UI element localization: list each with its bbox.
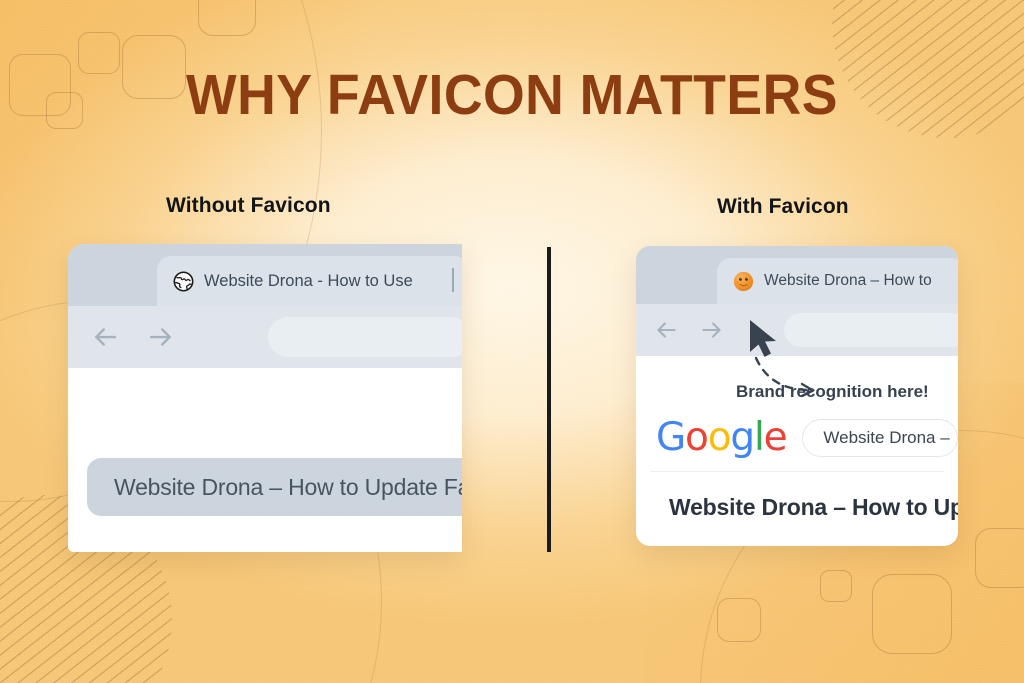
tab-text-caret — [452, 268, 454, 292]
google-logo-letter-2: o — [708, 415, 731, 460]
search-result-title-right: Website Drona – How to Up — [669, 494, 958, 520]
browser-toolbar-left — [68, 306, 462, 368]
address-bar-left[interactable] — [268, 317, 462, 357]
google-logo-letter-5: e — [764, 415, 787, 460]
search-result-right[interactable]: Website Drona – How to Up — [636, 472, 958, 521]
google-logo-letter-0: G — [656, 415, 685, 460]
google-search-input[interactable]: Website Drona – — [802, 419, 958, 457]
right-panel-heading: With Favicon — [717, 195, 849, 219]
google-logo-letter-3: g — [730, 415, 754, 460]
google-search-row: Google Website Drona – — [636, 414, 958, 471]
arrow-right-icon[interactable] — [146, 322, 176, 352]
browser-page-right: Brand recognition here! Google Website D… — [636, 356, 958, 521]
globe-icon — [173, 271, 194, 292]
decorative-square-3 — [198, 0, 256, 36]
arrow-left-icon[interactable] — [653, 317, 679, 343]
search-result-title-left: Website Drona – How to Update Fa — [114, 474, 462, 501]
arrow-left-icon[interactable] — [90, 322, 120, 352]
google-logo-letter-4: l — [754, 415, 764, 460]
browser-tab-title-left: Website Drona - How to Use — [204, 272, 413, 291]
slide-canvas: WHY FAVICON MATTERS Without Favicon With… — [0, 0, 1024, 683]
annotation-block: Brand recognition here! — [636, 356, 958, 414]
browser-mockup-with-favicon: Website Drona – How to Brand recognition… — [636, 246, 958, 546]
decorative-square-6 — [820, 570, 852, 602]
decorative-square-5 — [717, 598, 761, 642]
panel-divider — [547, 247, 551, 552]
google-logo-letter-1: o — [685, 415, 708, 460]
orange-face-favicon — [733, 271, 754, 292]
browser-tab-strip-right: Website Drona – How to — [636, 246, 958, 304]
arrow-right-icon[interactable] — [699, 317, 725, 343]
annotation-text: Brand recognition here! — [736, 382, 929, 402]
page-title: WHY FAVICON MATTERS — [31, 62, 994, 128]
search-result-left[interactable]: Website Drona – How to Update Fa — [87, 458, 462, 516]
google-logo: Google — [656, 418, 786, 457]
browser-tab-strip-left: Website Drona - How to Use — [68, 244, 462, 306]
decorative-square-7 — [872, 574, 952, 654]
browser-tab-title-right: Website Drona – How to — [764, 272, 932, 290]
google-search-value: Website Drona – — [823, 428, 949, 448]
decorative-square-8 — [975, 528, 1024, 588]
browser-tab-right[interactable]: Website Drona – How to — [717, 258, 958, 304]
browser-mockup-without-favicon: Website Drona - How to Use Website Drona… — [68, 244, 462, 552]
left-panel-heading: Without Favicon — [166, 194, 331, 218]
browser-page-left: Website Drona – How to Update Fa — [68, 368, 462, 552]
browser-tab-left[interactable]: Website Drona - How to Use — [157, 256, 462, 306]
